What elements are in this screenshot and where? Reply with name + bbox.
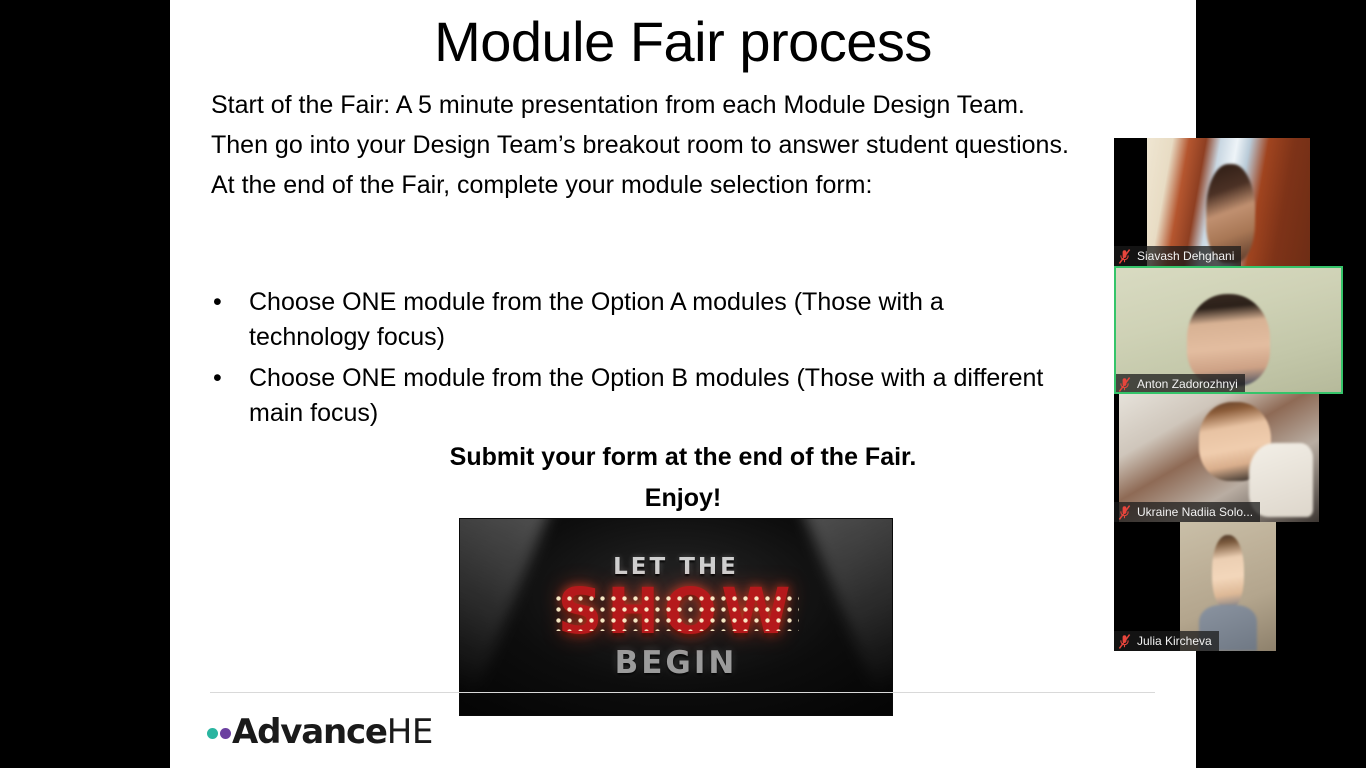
slide-bullet-list: • Choose ONE module from the Option A mo…	[211, 285, 1171, 437]
list-item: • Choose ONE module from the Option B mo…	[211, 361, 1171, 431]
slide-paragraph: Start of the Fair: A 5 minute presentati…	[211, 88, 1171, 123]
logo-text-he: HE	[387, 712, 433, 752]
show-image-line-2: SHOW	[557, 581, 794, 643]
participant-tile[interactable]: Anton Zadorozhnyi	[1114, 266, 1343, 394]
presentation-slide: Module Fair process Start of the Fair: A…	[170, 0, 1196, 768]
logo-dot-teal-icon	[207, 728, 218, 739]
participant-nameplate: Anton Zadorozhnyi	[1114, 374, 1245, 394]
closing-line-enjoy: Enjoy!	[170, 478, 1196, 519]
slide-paragraph: At the end of the Fair, complete your mo…	[211, 168, 1171, 203]
logo-dot-purple-icon	[220, 728, 231, 739]
participant-tile[interactable]: Siavash Dehghani	[1114, 138, 1343, 266]
show-image-line-3: BEGIN	[615, 645, 738, 681]
logo-dots-icon	[207, 726, 231, 739]
slide-paragraph: Then go into your Design Team’s breakout…	[211, 128, 1171, 163]
bullet-text: Choose ONE module from the Option A modu…	[249, 285, 1049, 355]
participant-name: Ukraine Nadiia Solo...	[1137, 505, 1253, 519]
mic-muted-icon	[1118, 505, 1131, 520]
bullet-text: Choose ONE module from the Option B modu…	[249, 361, 1049, 431]
video-participant-filmstrip[interactable]: Siavash Dehghani Anton Zadorozhnyi	[1114, 138, 1343, 651]
participant-nameplate: Julia Kircheva	[1114, 631, 1219, 651]
mic-muted-icon	[1118, 377, 1131, 392]
slide-title: Module Fair process	[170, 8, 1196, 76]
mic-muted-icon	[1118, 634, 1131, 649]
screen-share-view: Module Fair process Start of the Fair: A…	[0, 0, 1366, 768]
participant-tile[interactable]: Julia Kircheva	[1114, 522, 1343, 651]
bullet-marker-icon: •	[211, 361, 249, 396]
closing-line-submit: Submit your form at the end of the Fair.	[170, 437, 1196, 478]
slide-closing-text: Submit your form at the end of the Fair.…	[170, 437, 1196, 519]
bullet-marker-icon: •	[211, 285, 249, 320]
participant-name: Siavash Dehghani	[1137, 249, 1234, 263]
participant-nameplate: Siavash Dehghani	[1114, 246, 1241, 266]
slide-body-text: Start of the Fair: A 5 minute presentati…	[211, 88, 1171, 208]
participant-name: Julia Kircheva	[1137, 634, 1212, 648]
list-item: • Choose ONE module from the Option A mo…	[211, 285, 1171, 355]
footer-divider	[210, 692, 1155, 693]
logo-text-advance: Advance	[232, 712, 387, 752]
let-the-show-begin-image: LET THE SHOW BEGIN	[459, 518, 893, 716]
mic-muted-icon	[1118, 249, 1131, 264]
participant-name: Anton Zadorozhnyi	[1137, 377, 1238, 391]
advance-he-logo: Advance HE	[207, 712, 433, 752]
participant-tile[interactable]: Ukraine Nadiia Solo...	[1114, 394, 1343, 522]
participant-nameplate: Ukraine Nadiia Solo...	[1114, 502, 1260, 522]
